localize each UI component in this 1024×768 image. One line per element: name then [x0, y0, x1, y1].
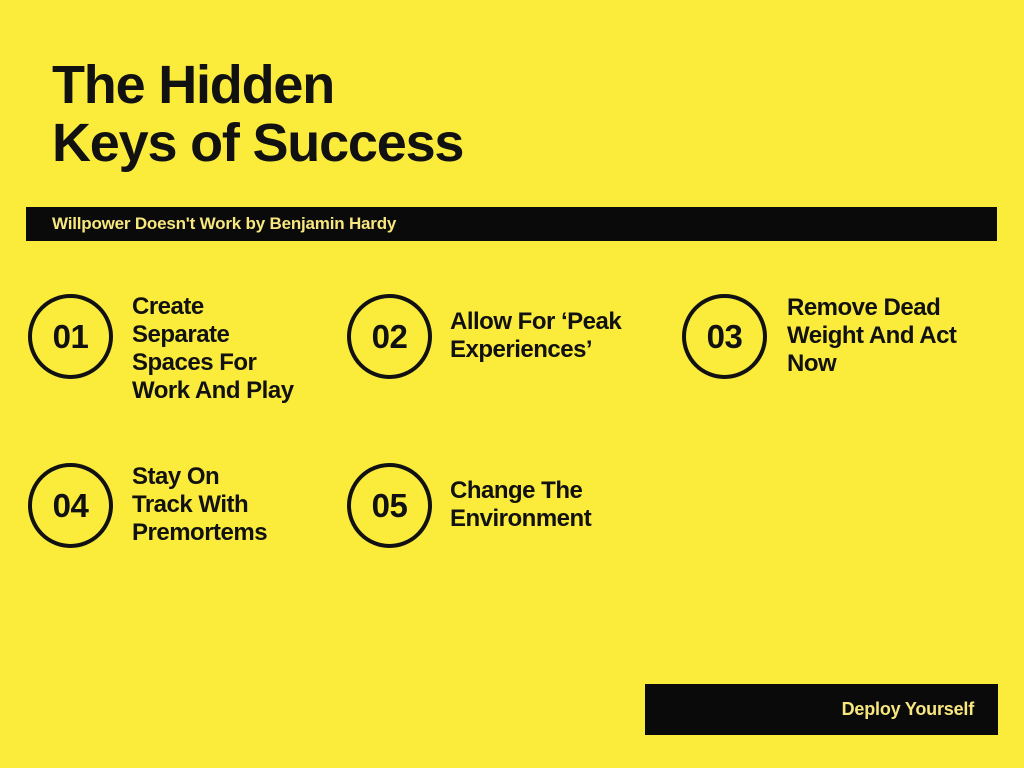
item-label: Change The Environment — [450, 477, 591, 533]
subtitle-banner: Willpower Doesn't Work by Benjamin Hardy — [26, 207, 997, 241]
item-label: Allow For ‘Peak Experiences’ — [450, 308, 621, 364]
item-label: Create Separate Spaces For Work And Play — [132, 293, 294, 405]
subtitle-label: Willpower Doesn't Work by Benjamin Hardy — [52, 207, 396, 241]
slide-canvas: The Hidden Keys of Success Willpower Doe… — [0, 0, 1024, 768]
footer-brand-label: Deploy Yourself — [842, 684, 974, 735]
list-item: 03 Remove Dead Weight And Act Now — [682, 294, 956, 379]
list-item: 05 Change The Environment — [347, 463, 591, 548]
item-number-badge: 02 — [347, 294, 432, 379]
item-number-badge: 03 — [682, 294, 767, 379]
list-item: 04 Stay On Track With Premortems — [28, 463, 267, 548]
list-item: 02 Allow For ‘Peak Experiences’ — [347, 294, 621, 379]
item-number-badge: 01 — [28, 294, 113, 379]
item-label: Stay On Track With Premortems — [132, 463, 267, 547]
footer-banner: Deploy Yourself — [645, 684, 998, 735]
list-item: 01 Create Separate Spaces For Work And P… — [28, 294, 294, 405]
item-number-badge: 05 — [347, 463, 432, 548]
item-label: Remove Dead Weight And Act Now — [787, 294, 956, 378]
item-number-badge: 04 — [28, 463, 113, 548]
page-title: The Hidden Keys of Success — [52, 56, 932, 172]
